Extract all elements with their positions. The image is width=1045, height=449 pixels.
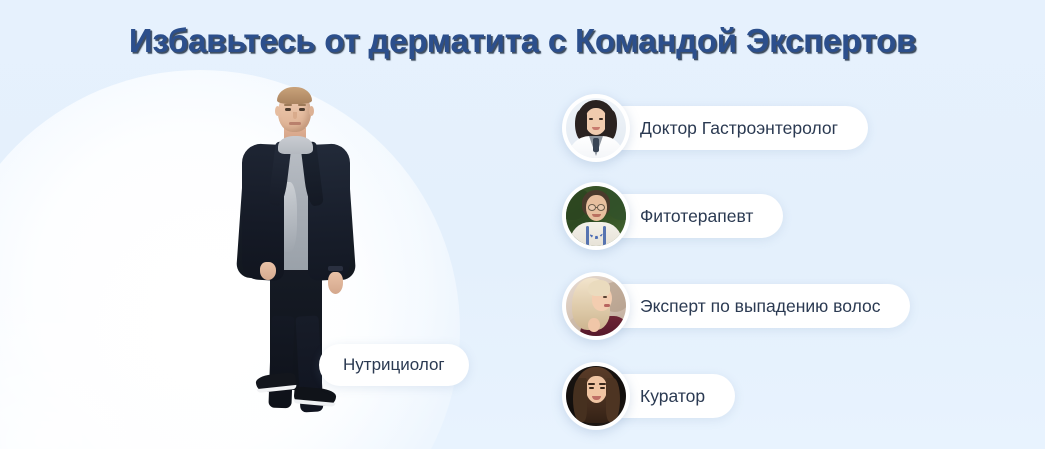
hero-ear-right [309,106,314,116]
avatar1-hair-right [605,110,617,140]
avatar1-face [585,108,607,135]
avatar1-eye-right [599,118,603,120]
avatar1-tie [593,138,599,152]
avatar4-hair-right [606,378,620,422]
avatar4-hair-left [573,378,587,422]
hero-mouth [289,122,301,125]
hero-eye-left [285,108,291,111]
expert-label: Фитотерапевт [640,206,753,227]
avatar2-embroidery-right [603,226,606,246]
hero-hair [277,87,312,104]
expert-row-hair-loss-expert[interactable]: Эксперт по выпадению волос [562,272,910,340]
hero-shoe-right [293,386,336,407]
avatar-phytotherapist [562,182,630,250]
hero-ear-left [275,106,280,116]
hero-turtleneck-collar [278,136,313,154]
hero-role-label: Нутрициолог [343,355,445,375]
expert-row-phytotherapist[interactable]: Фитотерапевт [562,182,783,250]
avatar3-lips [604,304,610,307]
hero-brow-right [298,104,306,106]
hero-leg-left [268,316,294,409]
background-glow [0,70,460,449]
expert-label: Куратор [640,386,705,407]
avatar4-eye-left [589,387,594,389]
background-corner-wash [0,289,240,449]
avatar-hair-loss-expert [562,272,630,340]
avatar-curator [562,362,630,430]
hero-eye-right [299,108,305,111]
avatar2-glasses-bridge [596,207,598,208]
promo-banner: Избавьтесь от дерматита с Командой Экспе… [0,0,1045,449]
avatar4-lips [592,396,601,400]
expert-pill-hair-loss-expert[interactable]: Эксперт по выпадению волос [594,284,910,328]
avatar-gastroenterologist [562,94,630,162]
avatar2-glasses-left-lens [588,204,596,211]
page-title: Избавьтесь от дерматита с Командой Экспе… [0,22,1045,60]
expert-row-gastroenterologist[interactable]: Доктор Гастроэнтеролог [562,94,868,162]
hero-nose [293,112,297,119]
hero-brow-left [284,104,292,106]
expert-pill-gastroenterologist[interactable]: Доктор Гастроэнтеролог [594,106,868,150]
avatar2-glasses-right-lens [597,204,605,211]
avatar4-brow-right [599,383,606,385]
avatar1-eye-left [589,118,593,120]
avatar3-hand [588,318,600,332]
hero-role-pill-nutritionist[interactable]: Нутрициолог [319,344,469,386]
hero-hand-left [260,262,276,280]
hero-hand-right [328,272,343,294]
avatar2-bead-necklace [589,224,603,239]
avatar3-eye [603,296,607,298]
avatar4-brow-left [588,383,595,385]
expert-row-curator[interactable]: Куратор [562,362,735,430]
hero-watch [328,266,343,271]
avatar4-eye-right [600,387,605,389]
expert-label: Доктор Гастроэнтеролог [640,118,838,139]
expert-label: Эксперт по выпадению волос [640,296,880,317]
avatar3-hair-front [588,280,610,296]
